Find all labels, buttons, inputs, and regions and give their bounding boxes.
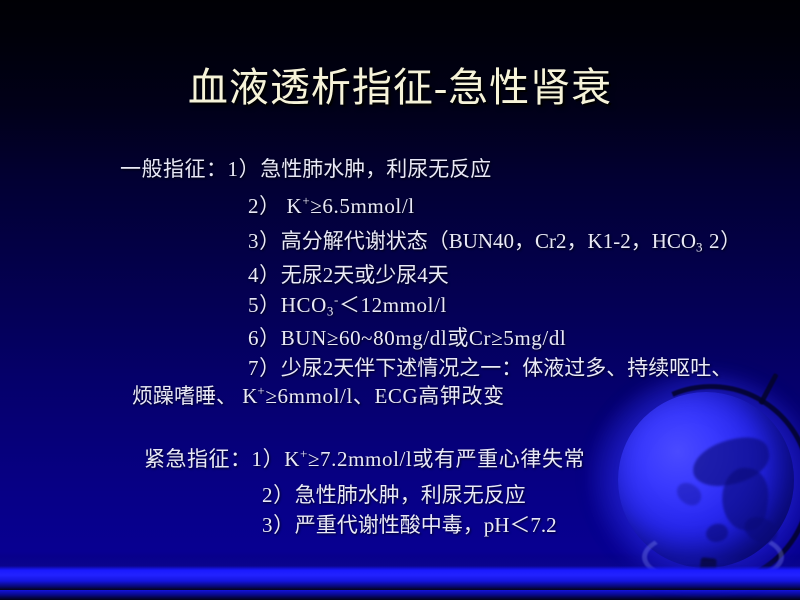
general-item-5-pre: HCO bbox=[281, 293, 327, 317]
general-line-5: 5）HCO3-＜12mmol/l bbox=[248, 292, 447, 318]
emergency-item-1-pre: K bbox=[284, 447, 300, 471]
general-wrap-post: ≥6mmol/l、ECG高钾改变 bbox=[265, 384, 504, 408]
emergency-line-3: 3）严重代谢性酸中毒，pH＜7.2 bbox=[262, 512, 557, 538]
general-line-7: 7）少尿2天伴下述情况之一：体液过多、持续呕吐、 bbox=[248, 355, 732, 381]
globe-landmass bbox=[703, 521, 730, 546]
presentation-slide: 血液透析指征-急性肾衰 一般指征：1）急性肺水肿，利尿无反应 2） K+≥6.5… bbox=[0, 0, 800, 600]
globe-landmass bbox=[673, 479, 706, 509]
globe-meridian-ring-icon bbox=[580, 354, 800, 600]
emergency-item-3-text: 严重代谢性酸中毒，pH＜7.2 bbox=[295, 513, 557, 537]
globe-halo bbox=[588, 372, 800, 584]
general-line-3: 3）高分解代谢状态（BUN40，Cr2，K1-2，HCO3 2） bbox=[248, 228, 742, 254]
emergency-item-1-num: 1） bbox=[252, 447, 285, 471]
general-item-2-post: ≥6.5mmol/l bbox=[310, 194, 414, 218]
general-item-1-num: 1） bbox=[228, 157, 261, 181]
emergency-line-2: 2）急性肺水肿，利尿无反应 bbox=[262, 482, 526, 508]
general-item-6-num: 6） bbox=[248, 326, 281, 350]
general-line-1: 一般指征：1）急性肺水肿，利尿无反应 bbox=[120, 156, 491, 182]
general-line-2: 2） K+≥6.5mmol/l bbox=[248, 193, 415, 219]
globe-sphere bbox=[618, 392, 794, 568]
emergency-item-1-sup: + bbox=[300, 446, 308, 461]
emergency-item-2-text: 急性肺水肿，利尿无反应 bbox=[295, 483, 526, 507]
general-item-2-pre: K bbox=[281, 194, 303, 218]
general-item-5-num: 5） bbox=[248, 293, 281, 317]
globe-landmass bbox=[718, 465, 772, 533]
general-label: 一般指征： bbox=[120, 157, 228, 181]
general-item-1-text: 急性肺水肿，利尿无反应 bbox=[260, 157, 491, 181]
general-item-5-post: ＜12mmol/l bbox=[339, 293, 447, 317]
slide-title: 血液透析指征-急性肾衰 bbox=[0, 62, 800, 114]
emergency-item-1-post: ≥7.2mmol/l或有严重心律失常 bbox=[308, 447, 585, 471]
general-line-6: 6）BUN≥60~80mg/dl或Cr≥5mg/dl bbox=[248, 325, 566, 351]
bottom-accent-band bbox=[0, 566, 800, 590]
globe-graphic bbox=[588, 372, 800, 584]
bottom-band-glow bbox=[0, 556, 800, 576]
general-item-5-sub: 3 bbox=[327, 304, 334, 319]
general-item-7-text: 少尿2天伴下述情况之一：体液过多、持续呕吐、 bbox=[281, 356, 733, 380]
general-item-2-num: 2） bbox=[248, 194, 281, 218]
general-item-6-text: BUN≥60~80mg/dl或Cr≥5mg/dl bbox=[281, 326, 567, 350]
general-item-4-text: 无尿2天或少尿4天 bbox=[281, 263, 449, 287]
globe-stand-icon bbox=[699, 557, 717, 579]
general-wrap-pre: 烦躁嗜睡、 K bbox=[132, 384, 257, 408]
general-wrap-line: 烦躁嗜睡、 K+≥6mmol/l、ECG高钾改变 bbox=[132, 383, 505, 409]
general-item-4-num: 4） bbox=[248, 263, 281, 287]
general-item-3-post: 2） bbox=[703, 229, 742, 253]
globe-axis-icon bbox=[758, 373, 778, 405]
general-item-3-num: 3） bbox=[248, 229, 281, 253]
emergency-item-3-num: 3） bbox=[262, 513, 295, 537]
general-line-4: 4）无尿2天或少尿4天 bbox=[248, 262, 449, 288]
general-item-3-pre: 高分解代谢状态（BUN40，Cr2，K1-2，HCO bbox=[281, 229, 696, 253]
globe-foot-icon bbox=[676, 568, 754, 582]
globe-base-arc-icon bbox=[642, 528, 784, 586]
emergency-line-1: 紧急指征：1）K+≥7.2mmol/l或有严重心律失常 bbox=[144, 446, 585, 472]
globe-landmass bbox=[741, 513, 781, 546]
globe-landmass bbox=[688, 432, 773, 491]
general-item-7-num: 7） bbox=[248, 356, 281, 380]
emergency-item-2-num: 2） bbox=[262, 483, 295, 507]
emergency-label: 紧急指征： bbox=[144, 447, 252, 471]
